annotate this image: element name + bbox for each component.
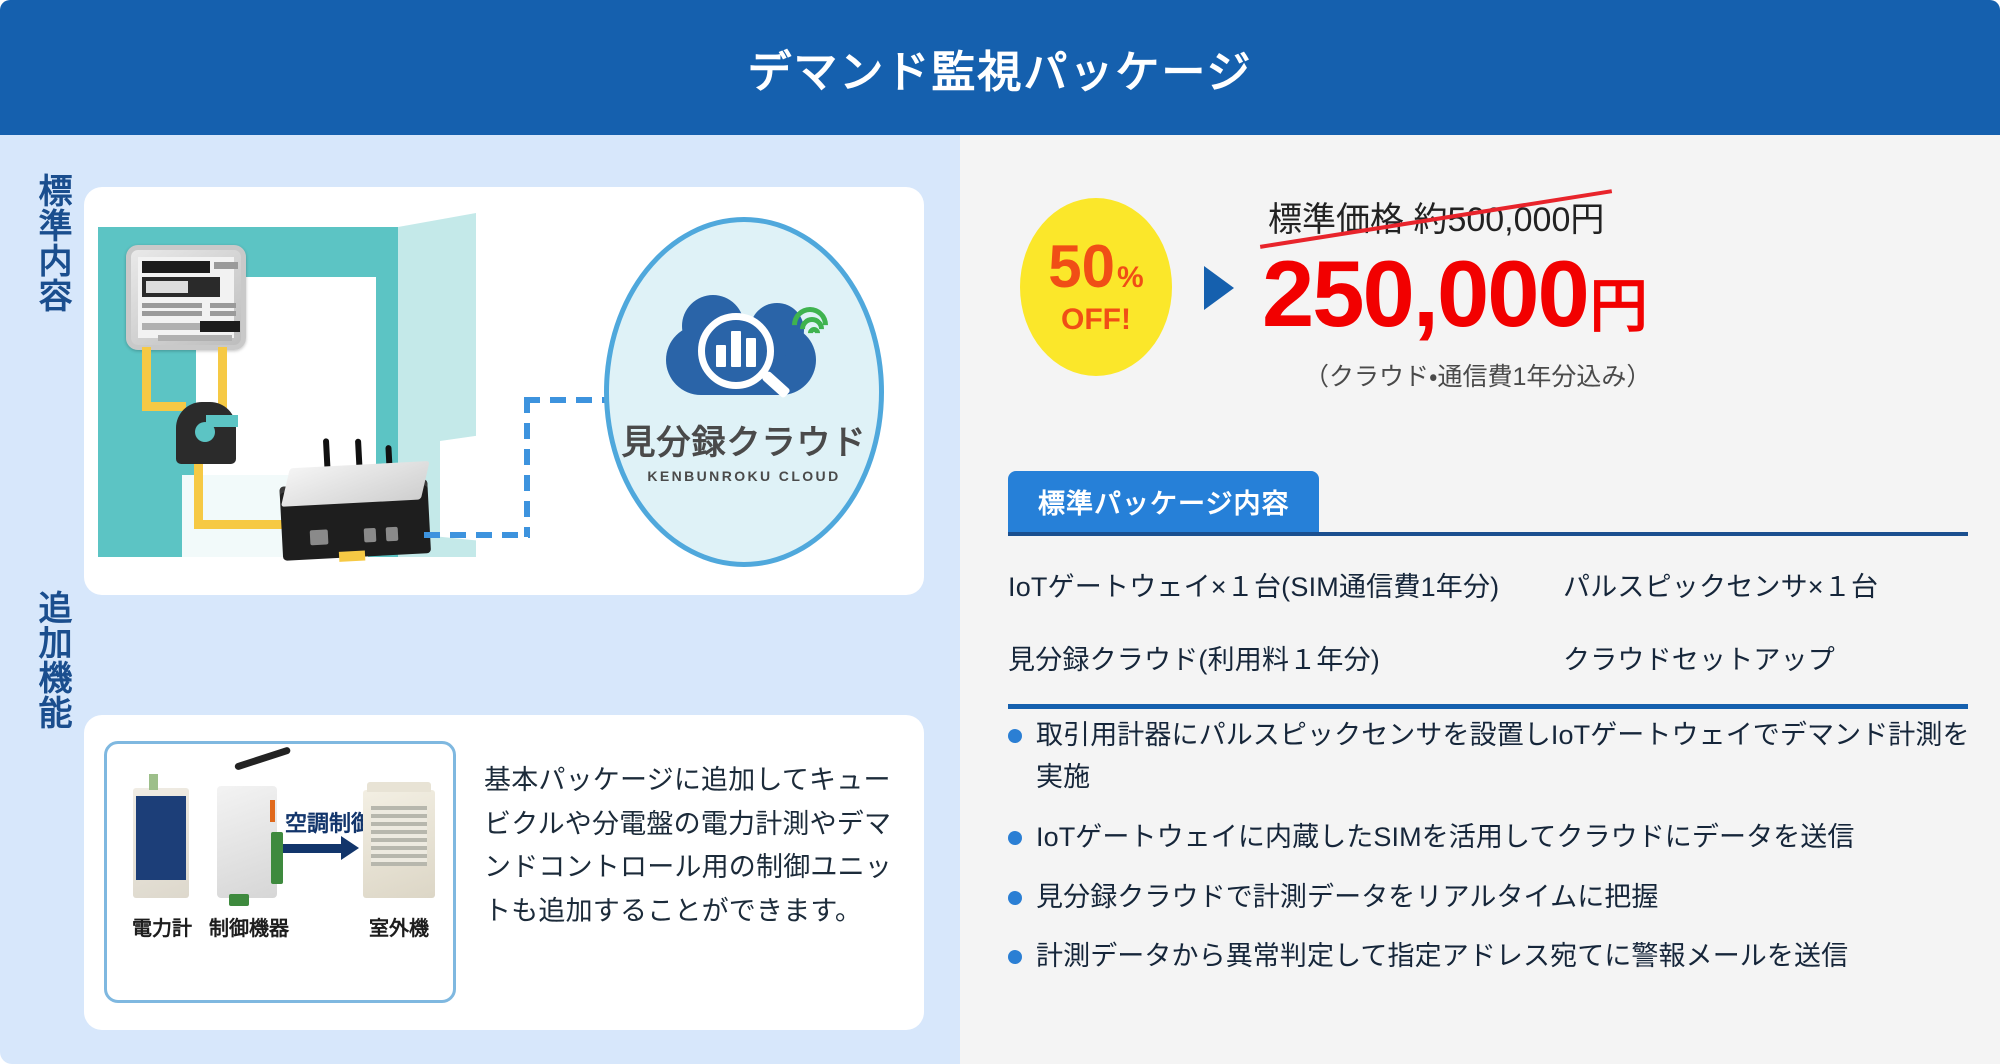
dashed-connector (524, 397, 608, 403)
pulse-pick-sensor-icon (176, 402, 236, 464)
wire-segment (142, 402, 186, 411)
kenbunroku-cloud-logo: 見分録クラウド KENBUNROKU CLOUD (604, 217, 884, 567)
bar-chart-bar (731, 331, 741, 367)
feature-text: 見分録クラウドで計測データをリアルタイムに把握 (1036, 877, 1659, 919)
bullet-dot-icon (1008, 831, 1022, 845)
dashed-connector (424, 532, 530, 538)
gateway-port (386, 527, 399, 542)
discount-percent-sign: % (1117, 263, 1144, 293)
extra-feature-description: 基本パッケージに追加してキュービクルや分電盤の電力計測やデマンドコントロール用の… (484, 759, 896, 934)
list-item: 見分録クラウドで計測データをリアルタイムに把握 (1008, 877, 1988, 919)
package-promo-page: デマンド監視パッケージ 標準内容 追加機能 (0, 0, 2000, 1064)
list-item: IoTゲートウェイに内蔵したSIMを活用してクラウドにデータを送信 (1008, 817, 1988, 859)
meter-detail (200, 321, 240, 332)
meter-detail (210, 303, 236, 308)
indicator-led (270, 800, 275, 822)
arrow-right-icon (1204, 266, 1234, 310)
package-item: IoTゲートウェイ×１台(SIM通信費1年分) (1008, 548, 1563, 621)
discounted-price-amount: 250,000 (1262, 247, 1588, 341)
meter-detail (214, 262, 238, 269)
meter-detail (210, 311, 236, 316)
left-panel: 標準内容 追加機能 (0, 135, 960, 1064)
meter-detail (142, 303, 202, 308)
meter-panel (136, 796, 186, 880)
package-contents-section: 標準パッケージ内容 IoTゲートウェイ×１台(SIM通信費1年分) パルスピック… (1008, 471, 1968, 709)
iot-gateway-icon (277, 433, 431, 561)
dashed-connector (524, 397, 530, 537)
outdoor-unit-grill (371, 806, 427, 866)
electric-meter-icon (126, 245, 246, 350)
outdoor-unit-device-icon (363, 790, 435, 898)
discount-badge: 50 % OFF! (1020, 198, 1172, 376)
bar-chart-bar (716, 345, 726, 367)
list-item: 計測データから異常判定して指定アドレス宛てに警報メールを送信 (1008, 936, 1988, 978)
page-header: デマンド監視パッケージ (0, 0, 2000, 135)
control-arrow-head-icon (341, 836, 359, 860)
meter-face (138, 257, 234, 338)
cloud-logo-name-jp: 見分録クラウド (622, 415, 867, 464)
extra-feature-card: 空調制御 電力計 制御機器 室外機 基本パッケージに追加してキュービクルや分電盤… (84, 715, 924, 1030)
package-items-grid: IoTゲートウェイ×１台(SIM通信費1年分) パルスピックセンサ×１台 見分録… (1008, 536, 1968, 694)
price-block: 標準価格 約500,000円 250,000 円 （クラウド・通信費1年分込み） (1262, 190, 1962, 393)
page-title: デマンド監視パッケージ (747, 36, 1252, 100)
package-divider-bottom (1008, 704, 1968, 709)
cloud-chart-icon (660, 301, 828, 411)
meter-detail (142, 323, 200, 330)
cloud-logo-name-en: KENBUNROKU CLOUD (647, 468, 840, 484)
package-item: パルスピックセンサ×１台 (1563, 548, 1968, 621)
sensor-gap (206, 415, 238, 427)
bullet-dot-icon (1008, 950, 1022, 964)
gateway-top (281, 461, 430, 507)
meter-detail (142, 311, 202, 316)
package-contents-tab: 標準パッケージ内容 (1008, 471, 1319, 532)
wire-segment (142, 347, 151, 409)
outdoor-unit-top (367, 782, 431, 792)
label-power-meter: 電力計 (123, 912, 201, 941)
meter-detail (158, 335, 232, 341)
wire-segment (194, 462, 203, 529)
bar-chart-bar (746, 338, 756, 367)
price-note: （クラウド・通信費1年分込み） (1304, 357, 1962, 393)
meter-antenna-icon (149, 774, 158, 790)
power-meter-device-icon (133, 788, 189, 898)
meter-detail (142, 261, 210, 273)
bullet-dot-icon (1008, 891, 1022, 905)
standard-content-card: 見分録クラウド KENBUNROKU CLOUD (84, 187, 924, 595)
right-panel: 50 % OFF! 標準価格 約500,000円 250,000 円 （クラウド… (960, 135, 2000, 1064)
original-price: 標準価格 約500,000円 (1262, 190, 1610, 243)
section-label-extra: 追加機能 (14, 590, 72, 780)
terminal-block (229, 894, 249, 906)
controller-antenna-icon (234, 746, 291, 771)
feature-text: 取引用計器にパルスピックセンサを設置しIoTゲートウェイでデマンド計測を実施 (1036, 715, 1988, 799)
control-arrow-line (283, 844, 343, 853)
label-outdoor-unit: 室外機 (353, 912, 445, 941)
gateway-port (310, 529, 329, 545)
discount-badge-main: 50 % (1048, 237, 1143, 297)
control-diagram: 空調制御 電力計 制御機器 室外機 (104, 741, 456, 1003)
system-diagram-illustration: 見分録クラウド KENBUNROKU CLOUD (84, 187, 924, 595)
package-item: 見分録クラウド(利用料１年分) (1008, 621, 1563, 694)
discount-off-label: OFF! (1061, 303, 1131, 337)
diagram-notch (440, 435, 482, 541)
label-controller: 制御機器 (199, 912, 299, 941)
gateway-cable (339, 551, 365, 562)
discounted-price: 250,000 円 (1262, 247, 1962, 341)
gateway-port (364, 528, 377, 543)
feature-list: 取引用計器にパルスピックセンサを設置しIoTゲートウェイでデマンド計測を実施 I… (1008, 715, 1988, 996)
feature-text: 計測データから異常判定して指定アドレス宛てに警報メールを送信 (1036, 936, 1848, 978)
pricing-section: 50 % OFF! 標準価格 約500,000円 250,000 円 （クラウド… (1008, 190, 1968, 420)
meter-detail (146, 281, 188, 293)
package-item: クラウドセットアップ (1563, 621, 1968, 694)
feature-text: IoTゲートウェイに内蔵したSIMを活用してクラウドにデータを送信 (1036, 817, 1855, 859)
section-label-standard: 標準内容 (14, 173, 72, 363)
terminal-block (271, 832, 283, 884)
discount-number: 50 (1048, 237, 1115, 297)
controller-device-icon (217, 786, 277, 898)
list-item: 取引用計器にパルスピックセンサを設置しIoTゲートウェイでデマンド計測を実施 (1008, 715, 1988, 799)
wifi-signal-icon (784, 301, 826, 343)
discounted-price-unit: 円 (1590, 278, 1648, 336)
control-arrow-label: 空調制御 (285, 806, 373, 838)
bullet-dot-icon (1008, 729, 1022, 743)
